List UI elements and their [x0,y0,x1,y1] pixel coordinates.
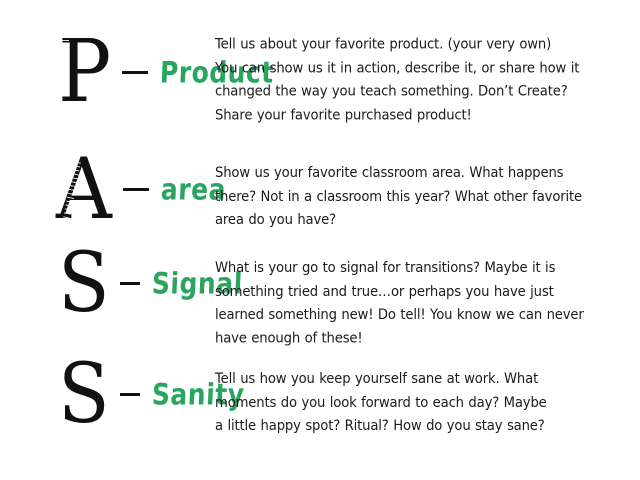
drop-cap-letter-s-sanity: S [58,358,110,432]
prompt-line: Tell us how you keep yourself sane at wo… [215,368,620,391]
prompt-line: Show us your favorite classroom area. Wh… [215,162,620,185]
prompt-line: there? Not in a classroom this year? Wha… [215,186,620,209]
prompt-line: What is your go to signal for transition… [215,257,620,280]
prompt-line: a little happy spot? Ritual? How do you … [215,415,620,438]
prompt-line: Share your favorite purchased product! [215,104,620,127]
prompt-line: have enough of these! [215,328,620,351]
dash-connector-icon [123,188,149,191]
prompt-text-product: Tell us about your favorite product. (yo… [215,34,640,128]
letter-group-signal: S Signal [0,247,215,321]
dash-connector-icon [120,282,140,285]
prompt-line: something tried and true…or perhaps you … [215,281,620,304]
prompt-text-area: Show us your favorite classroom area. Wh… [215,152,640,233]
letter-group-product: P Product [0,34,215,111]
prompt-row-signal: S Signal What is your go to signal for t… [0,247,640,347]
letter-group-sanity: S Sanity [0,358,215,432]
prompt-row-sanity: S Sanity Tell us how you keep yourself s… [0,358,640,436]
dash-connector-icon [120,393,140,396]
prompt-row-area: A area Show us your favorite classroom a… [0,152,640,230]
prompt-line: You can show us it in action, describe i… [215,57,620,80]
prompt-line: Tell us about your favorite product. (yo… [215,34,620,57]
prompt-row-product: P Product Tell us about your favorite pr… [0,34,640,124]
prompt-line: learned something new! Do tell! You know… [215,304,620,327]
drop-cap-letter-s-signal: S [58,247,110,321]
drop-cap-letter-p: P [58,34,111,111]
prompt-line: moments do you look forward to each day?… [215,392,620,415]
drop-cap-letter-a: A [56,152,112,228]
prompt-text-signal: What is your go to signal for transition… [215,247,640,351]
prompt-text-sanity: Tell us how you keep yourself sane at wo… [215,358,640,439]
prompt-line: changed the way you teach something. Don… [215,81,620,104]
prompt-line: area do you have? [215,209,620,232]
dash-connector-icon [122,71,148,74]
letter-group-area: A area [0,152,215,228]
poster-canvas: P Product Tell us about your favorite pr… [0,0,640,480]
